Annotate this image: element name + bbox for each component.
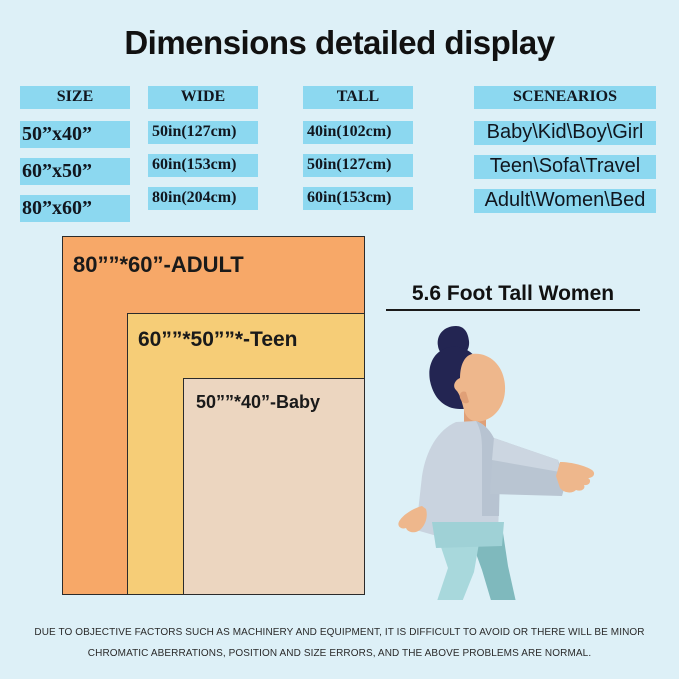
scale-reference-title: 5.6 Foot Tall Women [386, 282, 640, 311]
column-header-tall: TALL [303, 86, 413, 109]
column-header-scenarios: SCENEARIOS [474, 86, 656, 109]
disclaimer-text: DUE TO OBJECTIVE FACTORS SUCH AS MACHINE… [0, 622, 679, 664]
table-cell-wide-1: 50in(127cm) [148, 121, 258, 144]
pants-hip [432, 522, 504, 548]
spec-table: SIZE 50”x40” 60”x50” 80”x60” WIDE 50in(1… [0, 86, 679, 211]
table-cell-size-1: 50”x40” [20, 121, 130, 148]
table-cell-tall-1: 40in(102cm) [303, 121, 413, 144]
size-rect-label-adult: 80””*60”-ADULT [73, 252, 244, 278]
table-cell-size-3: 80”x60” [20, 195, 130, 222]
table-column-wide: WIDE 50in(127cm) 60in(153cm) 80in(204cm) [148, 86, 258, 210]
table-cell-tall-3: 60in(153cm) [303, 187, 413, 210]
size-rect-label-baby: 50””*40”-Baby [196, 392, 320, 413]
column-header-wide: WIDE [148, 86, 258, 109]
table-cell-scenarios-2: Teen\Sofa\Travel [474, 155, 656, 179]
size-rect-teen [127, 313, 365, 595]
table-column-tall: TALL 40in(102cm) 50in(127cm) 60in(153cm) [303, 86, 413, 210]
table-cell-tall-2: 50in(127cm) [303, 154, 413, 177]
table-cell-wide-2: 60in(153cm) [148, 154, 258, 177]
dimensions-infographic: Dimensions detailed display SIZE 50”x40”… [0, 0, 679, 679]
page-title: Dimensions detailed display [0, 24, 679, 62]
size-rect-label-teen: 60””*50””*-Teen [138, 328, 298, 352]
table-cell-scenarios-3: Adult\Women\Bed [474, 189, 656, 213]
scale-reference-figure: 5.6 Foot Tall Women [386, 282, 646, 602]
column-header-size: SIZE [20, 86, 130, 109]
disclaimer-line-1: DUE TO OBJECTIVE FACTORS SUCH AS MACHINE… [0, 622, 679, 643]
size-rect-baby [183, 378, 365, 595]
table-cell-scenarios-1: Baby\Kid\Boy\Girl [474, 121, 656, 145]
table-column-scenarios: SCENEARIOS Baby\Kid\Boy\Girl Teen\Sofa\T… [474, 86, 656, 213]
table-cell-wide-3: 80in(204cm) [148, 187, 258, 210]
walking-woman-illustration [386, 310, 640, 600]
hand-extended [556, 462, 594, 492]
disclaimer-line-2: CHROMATIC ABERRATIONS, POSITION AND SIZE… [0, 643, 679, 664]
table-column-size: SIZE 50”x40” 60”x50” 80”x60” [20, 86, 130, 222]
size-rect-adult [62, 236, 365, 595]
table-cell-size-2: 60”x50” [20, 158, 130, 185]
